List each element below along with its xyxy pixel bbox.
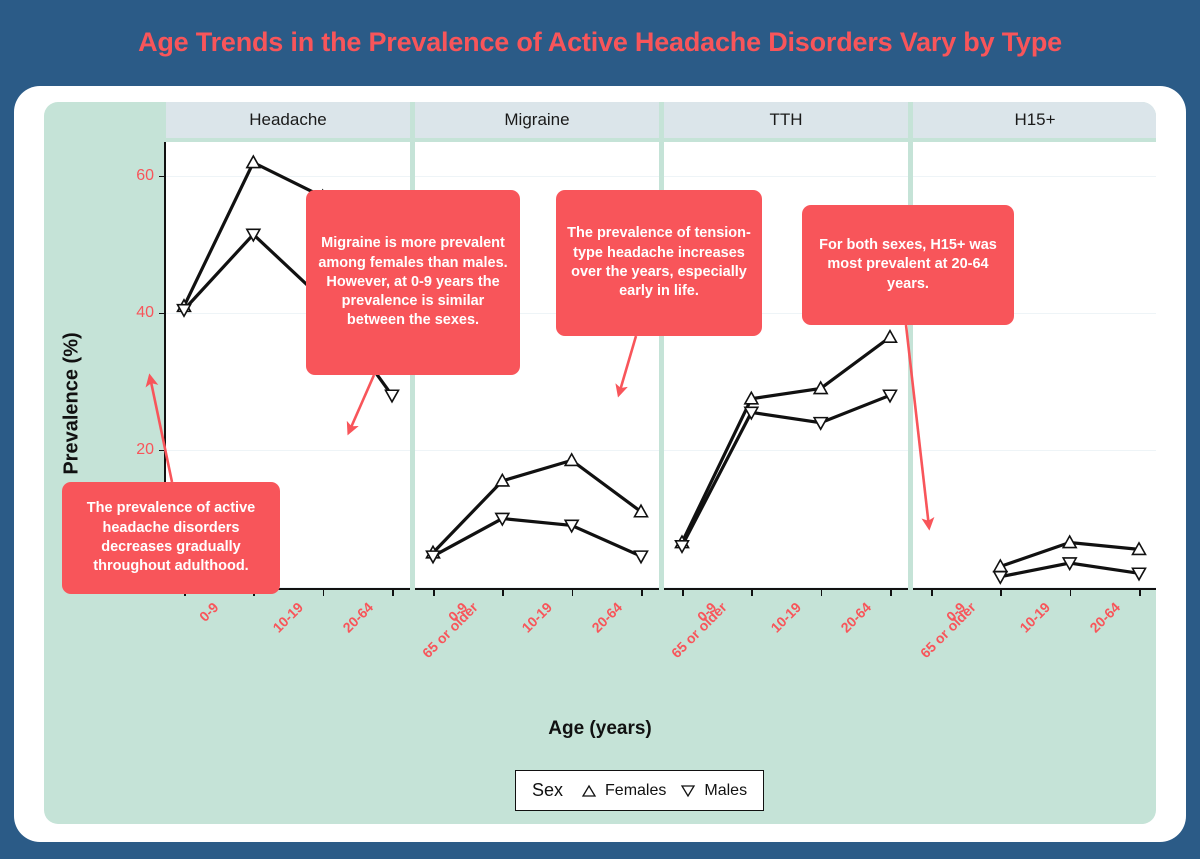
x-tick-mark (1070, 590, 1072, 596)
annotation-headache-note: The prevalence of active headache disord… (62, 482, 280, 594)
x-tick-mark (392, 590, 394, 596)
x-tick-mark (821, 590, 823, 596)
x-tick-mark (323, 590, 325, 596)
annotation-migraine-note: Migraine is more prevalent among females… (306, 190, 520, 375)
x-tick-mark (931, 590, 933, 596)
x-tick-label: 10-19 (768, 599, 805, 636)
legend-item-females[interactable]: Females (581, 782, 666, 800)
chart-card: Prevalence (%) Age (years) 0204060 Heada… (14, 86, 1186, 842)
x-tick-mark (1139, 590, 1141, 596)
triangle-up-marker (247, 156, 260, 168)
legend: Sex Females Males (515, 770, 764, 811)
facet-strip-label: H15+ (913, 102, 1156, 138)
x-tick-mark (433, 590, 435, 596)
series-line-males (433, 519, 641, 557)
page-title: Age Trends in the Prevalence of Active H… (0, 27, 1200, 58)
facet-strip-label: Headache (166, 102, 410, 138)
legend-label-males: Males (704, 782, 747, 800)
x-tick-label: 10-19 (519, 599, 556, 636)
triangle-down-marker (386, 390, 399, 402)
plot-area: Prevalence (%) Age (years) 0204060 Heada… (44, 102, 1156, 824)
x-tick-mark (1000, 590, 1002, 596)
x-axis-spine (664, 588, 908, 590)
y-tick-label: 20 (106, 441, 154, 459)
triangle-up-icon (581, 783, 597, 799)
x-axis-spine (913, 588, 1156, 590)
facet-h15-: H15+0-910-1920-6465 or older (913, 102, 1156, 587)
annotation-h15-note: For both sexes, H15+ was most prevalent … (802, 205, 1014, 325)
triangle-up-marker (565, 454, 578, 466)
y-tick-label: 40 (106, 304, 154, 322)
x-tick-label: 20-64 (588, 599, 625, 636)
x-tick-label: 10-19 (270, 599, 307, 636)
x-tick-mark (751, 590, 753, 596)
x-tick-mark (890, 590, 892, 596)
x-tick-mark (572, 590, 574, 596)
x-tick-label: 10-19 (1017, 599, 1054, 636)
chart-canvas: Prevalence (%) Age (years) 0204060 Heada… (44, 102, 1156, 824)
triangle-down-marker (635, 551, 648, 563)
facet-tth: TTH0-910-1920-6465 or older (664, 102, 908, 587)
x-tick-mark (682, 590, 684, 596)
x-tick-label: 0-9 (196, 599, 222, 625)
legend-label-females: Females (605, 782, 666, 800)
series-line-males (682, 395, 890, 546)
facet-strip-label: Migraine (415, 102, 659, 138)
triangle-up-marker (884, 331, 897, 343)
facet-strip-label: TTH (664, 102, 908, 138)
x-axis-spine (415, 588, 659, 590)
chart-root: Age Trends in the Prevalence of Active H… (0, 0, 1200, 859)
x-tick-mark (641, 590, 643, 596)
legend-item-males[interactable]: Males (680, 782, 747, 800)
series-line-females (682, 337, 890, 542)
x-tick-label: 20-64 (339, 599, 376, 636)
x-axis-label: Age (years) (44, 718, 1156, 740)
x-tick-label: 20-64 (1086, 599, 1123, 636)
x-tick-mark (502, 590, 504, 596)
annotation-tth-note: The prevalence of tension-type headache … (556, 190, 762, 336)
triangle-down-icon (680, 783, 696, 799)
y-tick-label: 60 (106, 167, 154, 185)
legend-title: Sex (532, 780, 563, 801)
x-tick-label: 20-64 (837, 599, 874, 636)
